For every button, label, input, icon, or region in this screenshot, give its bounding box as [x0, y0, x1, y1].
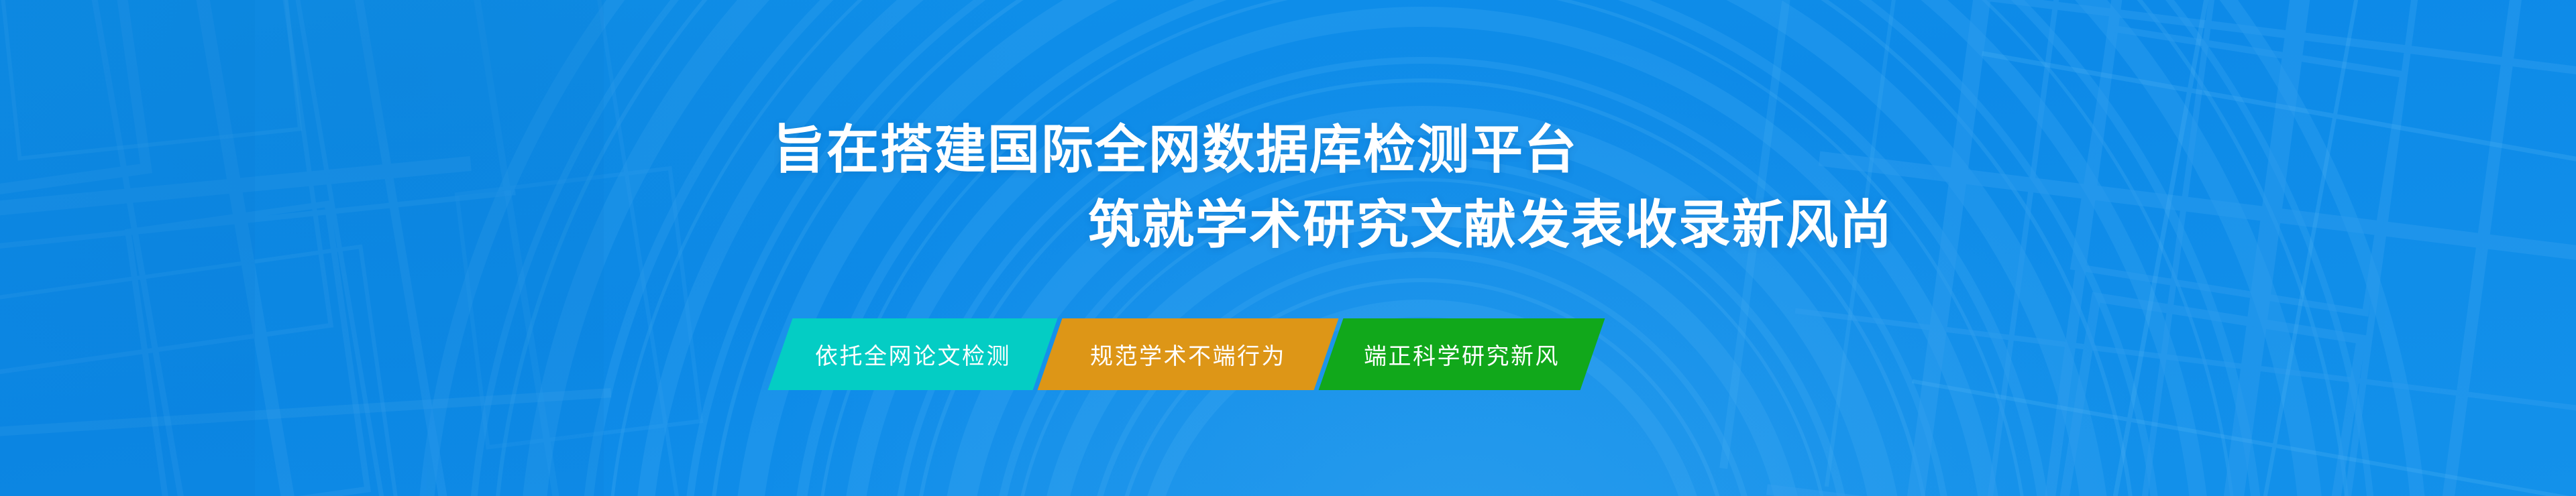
feature-badge-misconduct-label: 规范学术不端行为: [1087, 338, 1289, 371]
headline-line-1: 旨在搭建国际全网数据库检测平台: [773, 119, 2576, 181]
feature-badge-detection-label: 依托全网论文检测: [812, 338, 1014, 371]
feature-badge-ethos[interactable]: 端正科学研究新风: [1319, 318, 1605, 390]
feature-badge-group: 依托全网论文检测 规范学术不端行为 端正科学研究新风: [780, 318, 1593, 390]
headline-line-2: 筑就学术研究文献发表收录新风尚: [1088, 194, 2576, 256]
banner-content: 旨在搭建国际全网数据库检测平台 筑就学术研究文献发表收录新风尚 依托全网论文检测…: [0, 0, 2576, 496]
feature-badge-detection[interactable]: 依托全网论文检测: [768, 318, 1058, 390]
feature-badge-misconduct[interactable]: 规范学术不端行为: [1038, 318, 1339, 390]
feature-badge-ethos-label: 端正科学研究新风: [1361, 338, 1562, 371]
hero-banner: 旨在搭建国际全网数据库检测平台 筑就学术研究文献发表收录新风尚 依托全网论文检测…: [0, 0, 2576, 496]
